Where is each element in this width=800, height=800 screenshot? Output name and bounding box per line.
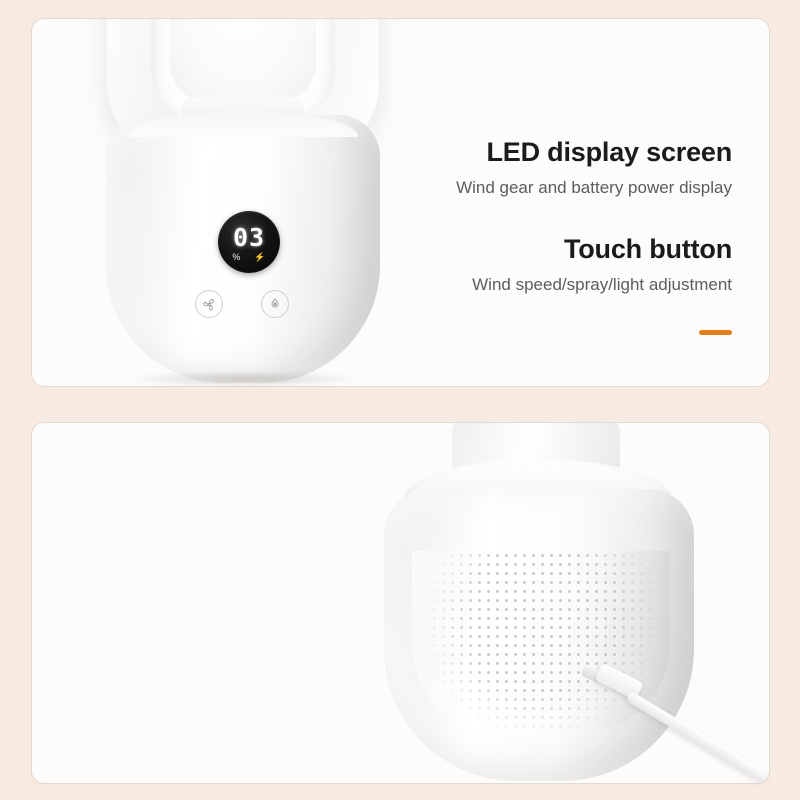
feature-touch-button: Touch button Wind speed/spray/light adju… <box>312 234 732 296</box>
led-display-screen: 03 % ⚡ <box>218 211 280 273</box>
fan-body-bottom <box>384 489 694 781</box>
feature-description: Wind speed/spray/light adjustment <box>312 274 732 296</box>
feature-panel-bottom: Dustproof net Prevent dust and debris fr… <box>31 422 770 784</box>
product-photo-bottom <box>32 423 769 783</box>
product-photo-top: 03 % ⚡ <box>32 19 769 386</box>
percent-icon: % <box>232 253 240 262</box>
product-feature-graphic: 03 % ⚡ <box>0 0 800 800</box>
touch-button-fan[interactable] <box>195 290 223 318</box>
feature-panel-top: 03 % ⚡ <box>31 18 770 387</box>
led-value: 03 <box>233 225 265 250</box>
fan-ring-base-bottom <box>452 422 620 499</box>
led-indicator-row: % ⚡ <box>232 253 265 262</box>
fan-ring-inner <box>151 18 335 121</box>
battery-bolt-icon: ⚡ <box>254 253 265 262</box>
accent-bar-top <box>699 330 732 335</box>
fan-contact-shadow <box>124 371 362 387</box>
feature-title: Touch button <box>312 234 732 265</box>
feature-title: LED display screen <box>312 137 732 168</box>
feature-description: Wind gear and battery power display <box>312 177 732 199</box>
water-drop-icon <box>268 297 282 311</box>
fan-neck <box>182 97 304 127</box>
touch-button-spray[interactable] <box>261 290 289 318</box>
feature-led-display: LED display screen Wind gear and battery… <box>312 137 732 199</box>
fan-icon <box>202 297 217 312</box>
fan-ring-core <box>170 18 316 103</box>
fan-collar-bottom <box>404 459 672 537</box>
fan-body-rim <box>128 111 358 137</box>
